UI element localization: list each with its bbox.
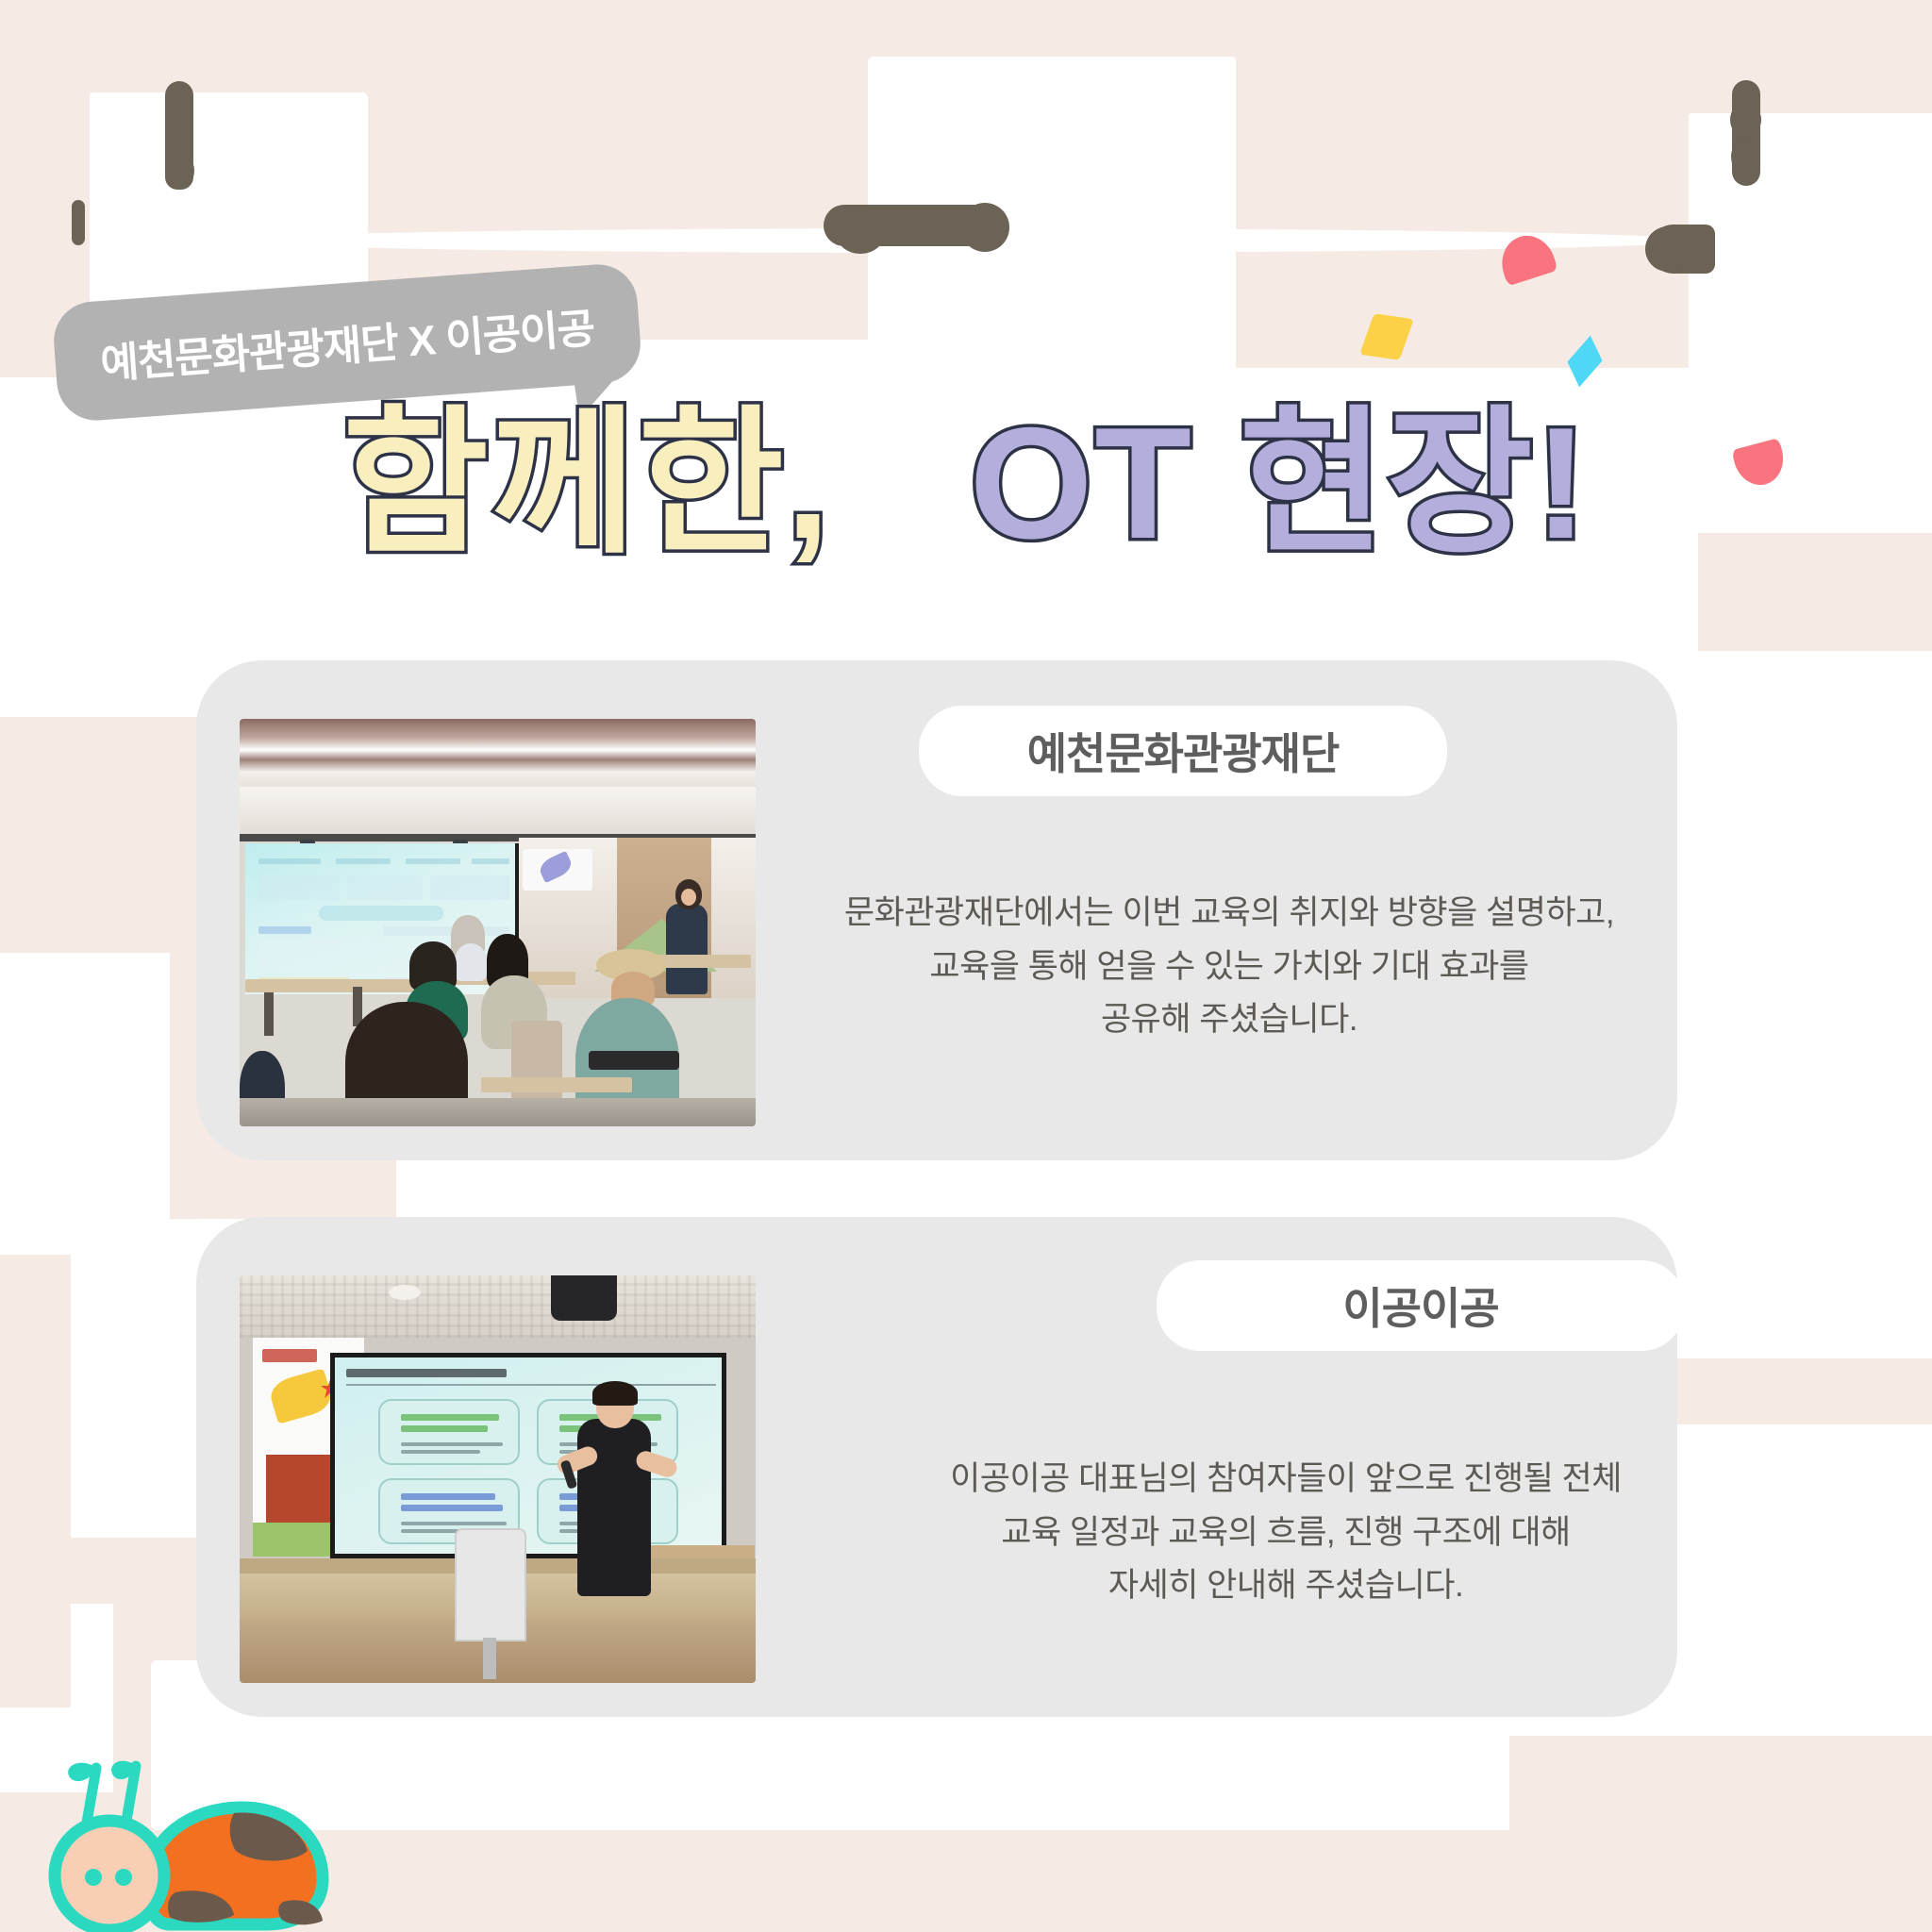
brush-blob-icon (836, 212, 885, 254)
page-title: 함께한, OT 현장! (0, 396, 1932, 571)
seminar-audience-photo (240, 719, 756, 1126)
brush-blob-icon (960, 203, 1009, 252)
content-card-foundation: 예천문화관광재단 문화관광재단에서는 이번 교육의 취지와 방향을 설명하고, … (196, 660, 1677, 1160)
brush-blob-icon (167, 153, 194, 189)
peach-patch (1236, 57, 1689, 368)
brush-blob-icon (1730, 102, 1761, 138)
content-card-igong: 이공이공 이공이공 대표님의 참여자들이 앞으로 진행될 전체 교육 일정과 교… (196, 1217, 1677, 1717)
card-body-text: 이공이공 대표님의 참여자들이 앞으로 진행될 전체 교육 일정과 교육의 흐름… (857, 1453, 1715, 1613)
brush-blob-icon (1731, 138, 1760, 175)
paper-patch (0, 943, 170, 1255)
poster-root: 예천문화관광재단 X 이공이공 함께한, OT 현장! (0, 0, 1932, 1932)
card-body-text: 문화관광재단에서는 이번 교육의 취지와 방향을 설명하고, 교육을 통해 얻을… (800, 887, 1658, 1047)
snail-mascot-icon (28, 1736, 330, 1932)
brush-blob-icon (166, 123, 192, 157)
card-heading-pill: 이공이공 (1157, 1260, 1685, 1351)
title-part-purple: OT 현장! (970, 394, 1590, 572)
brush-blob-icon (72, 200, 85, 245)
brush-blob-icon (1645, 226, 1690, 272)
title-part-yellow: 함께한, (342, 394, 831, 572)
card-heading-pill: 예천문화관광재단 (919, 706, 1447, 796)
speaker-presentation-photo (240, 1275, 756, 1683)
card-heading-label: 이공이공 (1342, 1274, 1498, 1337)
peach-patch (0, 1255, 71, 1707)
card-heading-label: 예천문화관광재단 (1027, 720, 1340, 782)
